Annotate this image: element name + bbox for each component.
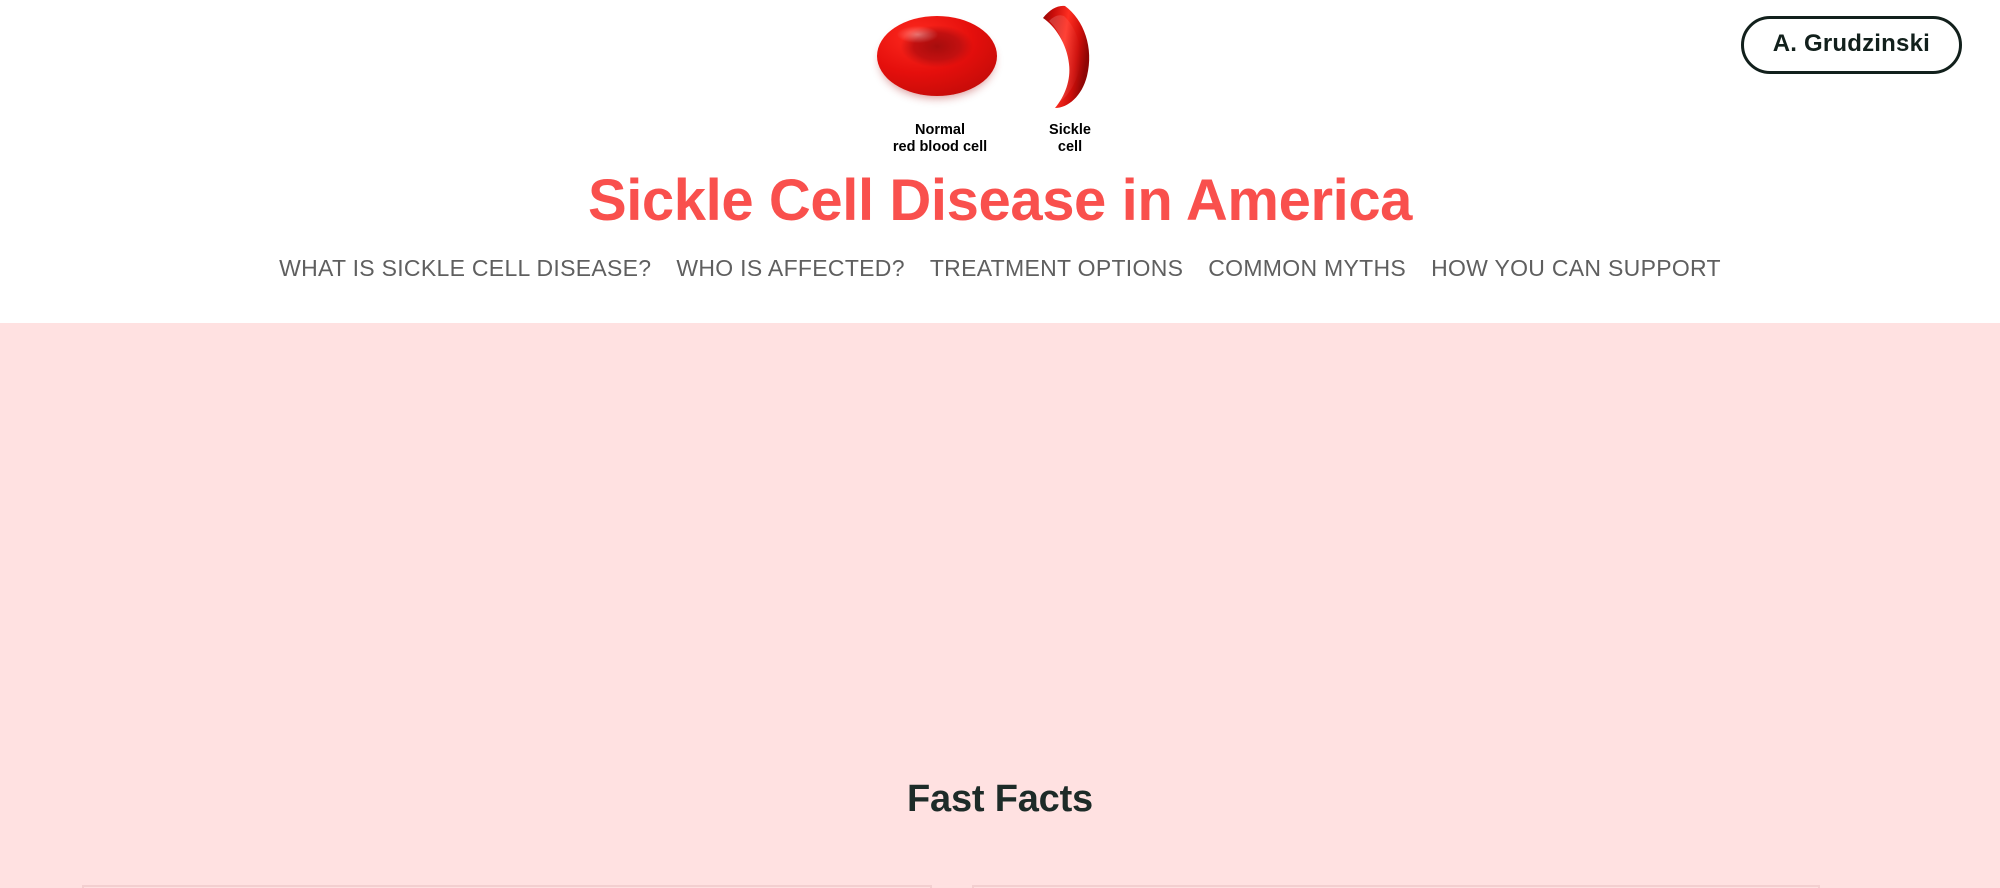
sickle-cell-label: Sickle cell (1015, 122, 1125, 156)
user-account-button[interactable]: A. Grudzinski (1741, 16, 1962, 74)
normal-cell-label-line1: Normal (865, 122, 1015, 139)
normal-cell-label-line2: red blood cell (865, 139, 1015, 156)
blood-cell-labels: Normal red blood cell Sickle cell (865, 122, 1135, 160)
nav-item-how-you-can-support[interactable]: HOW YOU CAN SUPPORT (1431, 255, 1721, 282)
main-navigation: WHAT IS SICKLE CELL DISEASE? WHO IS AFFE… (0, 255, 2000, 282)
fast-facts-heading: Fast Facts (0, 778, 2000, 821)
blood-cell-illustration (865, 4, 1135, 122)
sickle-cell-label-line2: cell (1015, 139, 1125, 156)
site-header: A. Grudzinski (0, 0, 2000, 323)
site-logo[interactable]: Normal red blood cell Sickle cell (865, 4, 1135, 160)
nav-item-what-is-sickle-cell-disease[interactable]: WHAT IS SICKLE CELL DISEASE? (279, 255, 651, 282)
nav-item-who-is-affected[interactable]: WHO IS AFFECTED? (676, 255, 904, 282)
fast-facts-section: Fast Facts 70,000 - 100,000 Americans ar… (0, 323, 2000, 888)
normal-cell-label: Normal red blood cell (865, 122, 1015, 156)
nav-item-common-myths[interactable]: COMMON MYTHS (1208, 255, 1406, 282)
page-root: A. Grudzinski (0, 0, 2000, 888)
sickle-cell-icon (1035, 4, 1099, 112)
sickle-cell-label-line1: Sickle (1015, 122, 1125, 139)
normal-red-blood-cell-icon (877, 16, 997, 96)
nav-item-treatment-options[interactable]: TREATMENT OPTIONS (930, 255, 1183, 282)
page-title: Sickle Cell Disease in America (0, 172, 2000, 230)
